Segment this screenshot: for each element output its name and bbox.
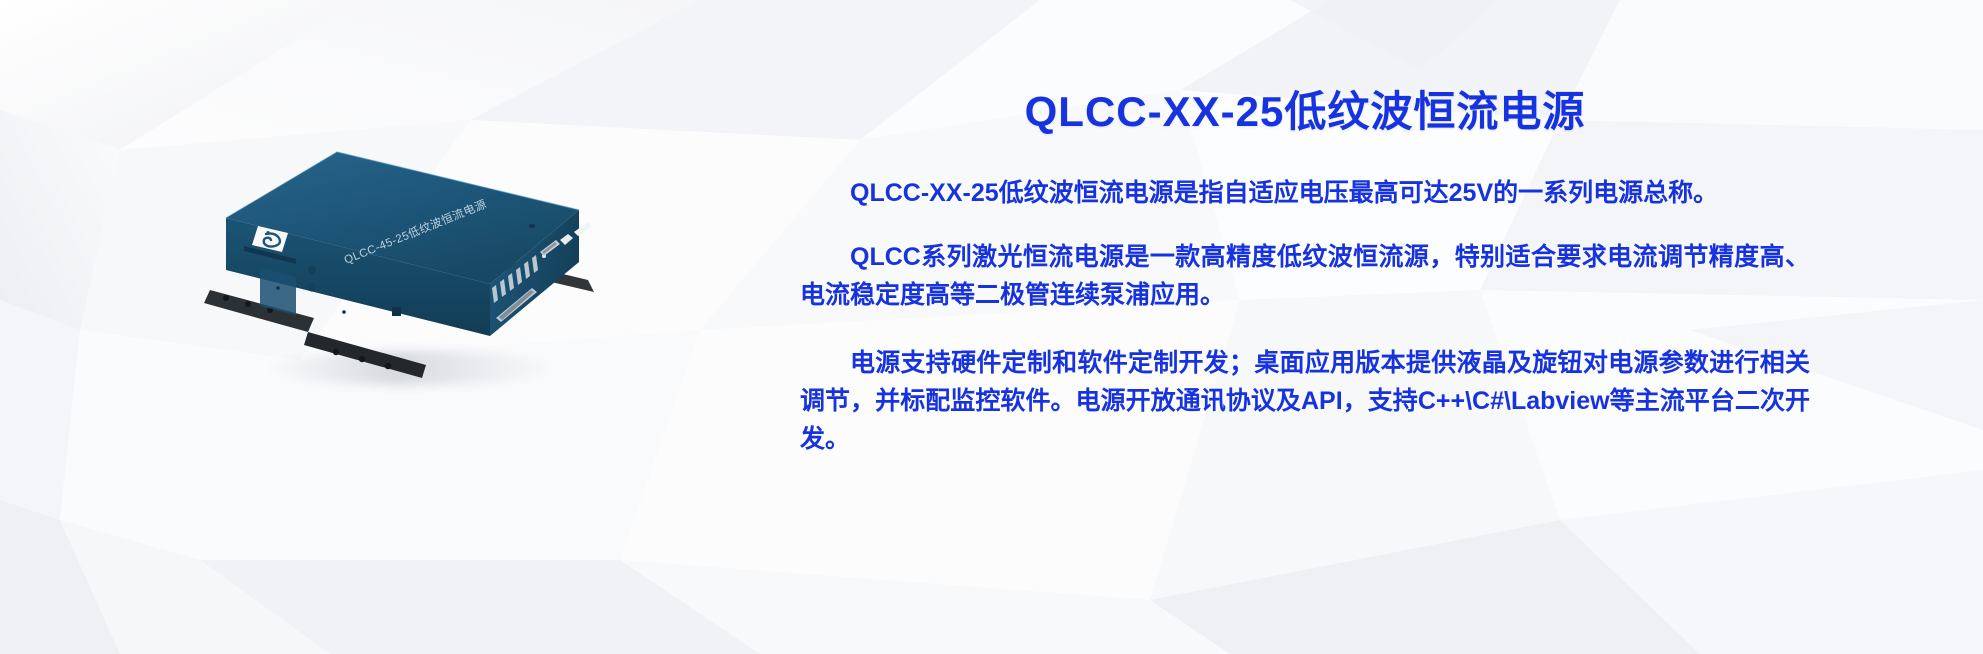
bracket-hole	[223, 295, 229, 301]
front-port	[392, 307, 401, 316]
bracket-hole	[333, 349, 339, 355]
bracket-hole	[359, 356, 365, 362]
description-paragraph-1: QLCC-XX-25低纹波恒流电源是指自适应电压最高可达25V的一系列电源总称。	[800, 174, 1810, 212]
plate-screw	[276, 286, 280, 290]
top-screw-hole	[529, 224, 535, 228]
product-banner-page: QLCC-45-25低纹波恒流电源	[0, 0, 1983, 654]
front-hole	[308, 282, 316, 291]
description-paragraph-3: 电源支持硬件定制和软件定制开发；桌面应用版本提供液晶及旋钮对电源参数进行相关调节…	[800, 344, 1810, 458]
plate-screw	[342, 310, 346, 314]
front-hole	[308, 265, 316, 274]
product-description-block: QLCC-XX-25低纹波恒流电源 QLCC-XX-25低纹波恒流电源是指自适应…	[800, 88, 1810, 458]
page-title: QLCC-XX-25低纹波恒流电源	[800, 88, 1810, 136]
bracket-hole	[385, 363, 391, 369]
bracket-hole	[245, 301, 251, 307]
mounting-bracket-left	[204, 290, 314, 332]
product-image: QLCC-45-25低纹波恒流电源	[196, 140, 616, 400]
description-paragraph-2: QLCC系列激光恒流电源是一款高精度低纹波恒流源，特别适合要求电流调节精度高、电…	[800, 238, 1810, 314]
product-illustration: QLCC-45-25低纹波恒流电源	[196, 140, 616, 400]
